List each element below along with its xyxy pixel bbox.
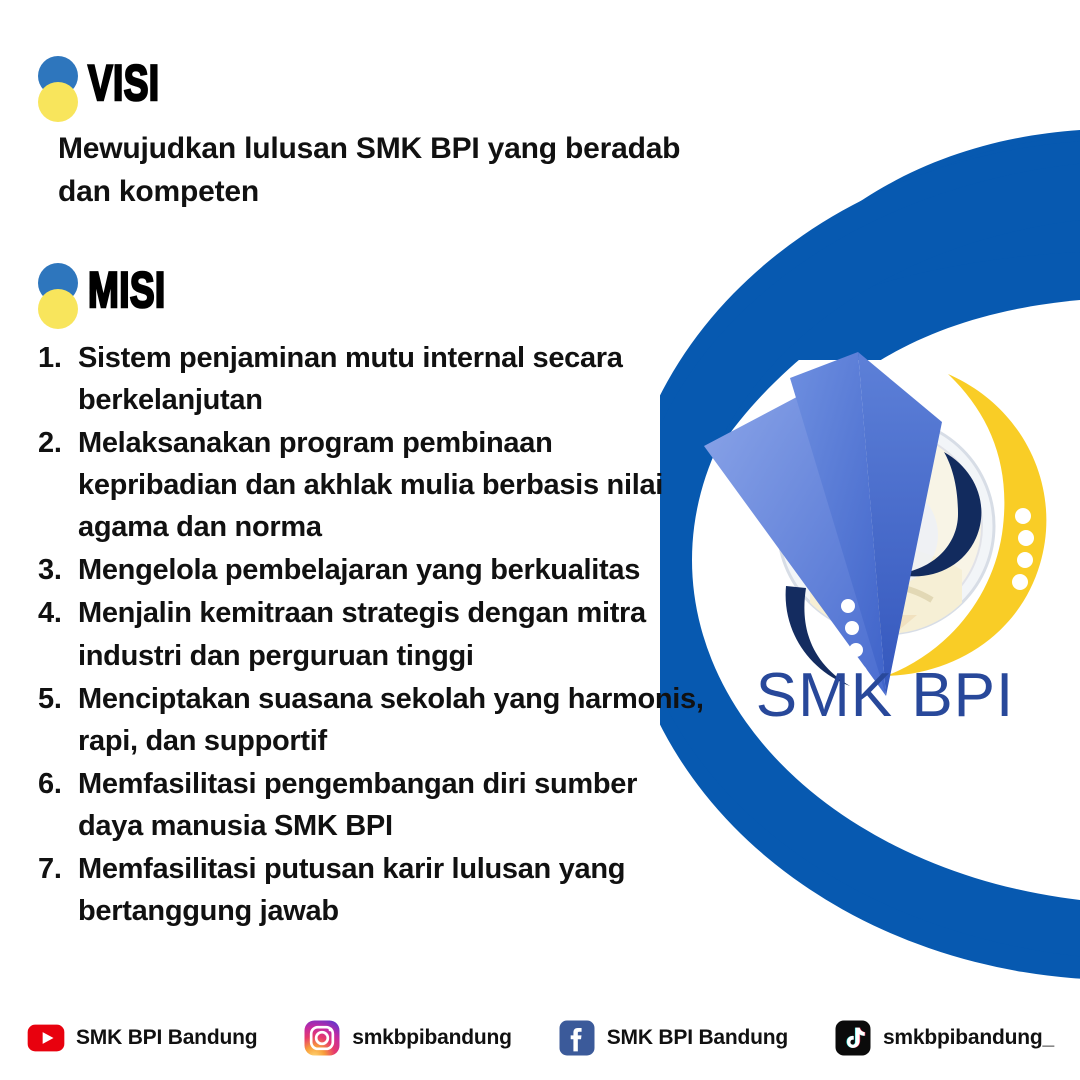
misi-heading: MISI bbox=[88, 265, 166, 315]
section-visi: VISI Mewujudkan lulusan SMK BPI yang ber… bbox=[34, 52, 706, 213]
misi-list: Sistem penjaminan mutu internal secara b… bbox=[34, 337, 706, 932]
tiktok-icon[interactable] bbox=[833, 1018, 873, 1058]
poster-canvas: SMK BPI VISI Mewujudkan lulusan SMK BPI … bbox=[0, 0, 1080, 1080]
social-youtube[interactable]: SMK BPI Bandung bbox=[26, 1018, 257, 1058]
list-item: Memfasilitasi pengembangan diri sumber d… bbox=[34, 763, 706, 847]
instagram-icon[interactable] bbox=[302, 1018, 342, 1058]
list-item: Sistem penjaminan mutu internal secara b… bbox=[34, 337, 706, 421]
yellow-dot-icon bbox=[38, 82, 78, 122]
list-item: Melaksanakan program pembinaan kepribadi… bbox=[34, 422, 706, 548]
list-item: Memfasilitasi putusan karir lulusan yang… bbox=[34, 848, 706, 932]
social-footer: SMK BPI Bandung smkbpibandun bbox=[0, 1002, 1080, 1080]
list-item: Menjalin kemitraan strategis dengan mitr… bbox=[34, 592, 706, 676]
social-facebook[interactable]: SMK BPI Bandung bbox=[557, 1018, 788, 1058]
arc-upper-mass bbox=[730, 140, 1080, 360]
two-dots-icon bbox=[38, 56, 82, 120]
social-handle: SMK BPI Bandung bbox=[607, 1026, 788, 1050]
social-instagram[interactable]: smkbpibandung bbox=[302, 1018, 512, 1058]
social-tiktok[interactable]: smkbpibandung_ bbox=[833, 1018, 1054, 1058]
smk-bpi-logo: SMK BPI bbox=[690, 330, 1080, 750]
visi-body: Mewujudkan lulusan SMK BPI yang beradab … bbox=[34, 128, 706, 213]
visi-header: VISI bbox=[34, 52, 706, 124]
two-dots-icon bbox=[38, 263, 82, 327]
list-item: Menciptakan suasana sekolah yang harmoni… bbox=[34, 678, 706, 762]
youtube-icon[interactable] bbox=[26, 1018, 66, 1058]
misi-header: MISI bbox=[34, 259, 706, 331]
arc-upper-mass2 bbox=[775, 150, 1080, 330]
social-handle: SMK BPI Bandung bbox=[76, 1026, 257, 1050]
visi-heading: VISI bbox=[88, 58, 159, 108]
content-column: VISI Mewujudkan lulusan SMK BPI yang ber… bbox=[34, 52, 706, 933]
social-handle: smkbpibandung bbox=[352, 1026, 512, 1050]
logo-wordmark: SMK BPI bbox=[690, 660, 1080, 731]
facebook-icon[interactable] bbox=[557, 1018, 597, 1058]
yellow-dot-icon bbox=[38, 289, 78, 329]
list-item: Mengelola pembelajaran yang berkualitas bbox=[34, 549, 706, 591]
social-handle: smkbpibandung_ bbox=[883, 1026, 1054, 1050]
arc-topright-solid bbox=[728, 136, 1080, 360]
section-misi: MISI Sistem penjaminan mutu internal sec… bbox=[34, 259, 706, 932]
